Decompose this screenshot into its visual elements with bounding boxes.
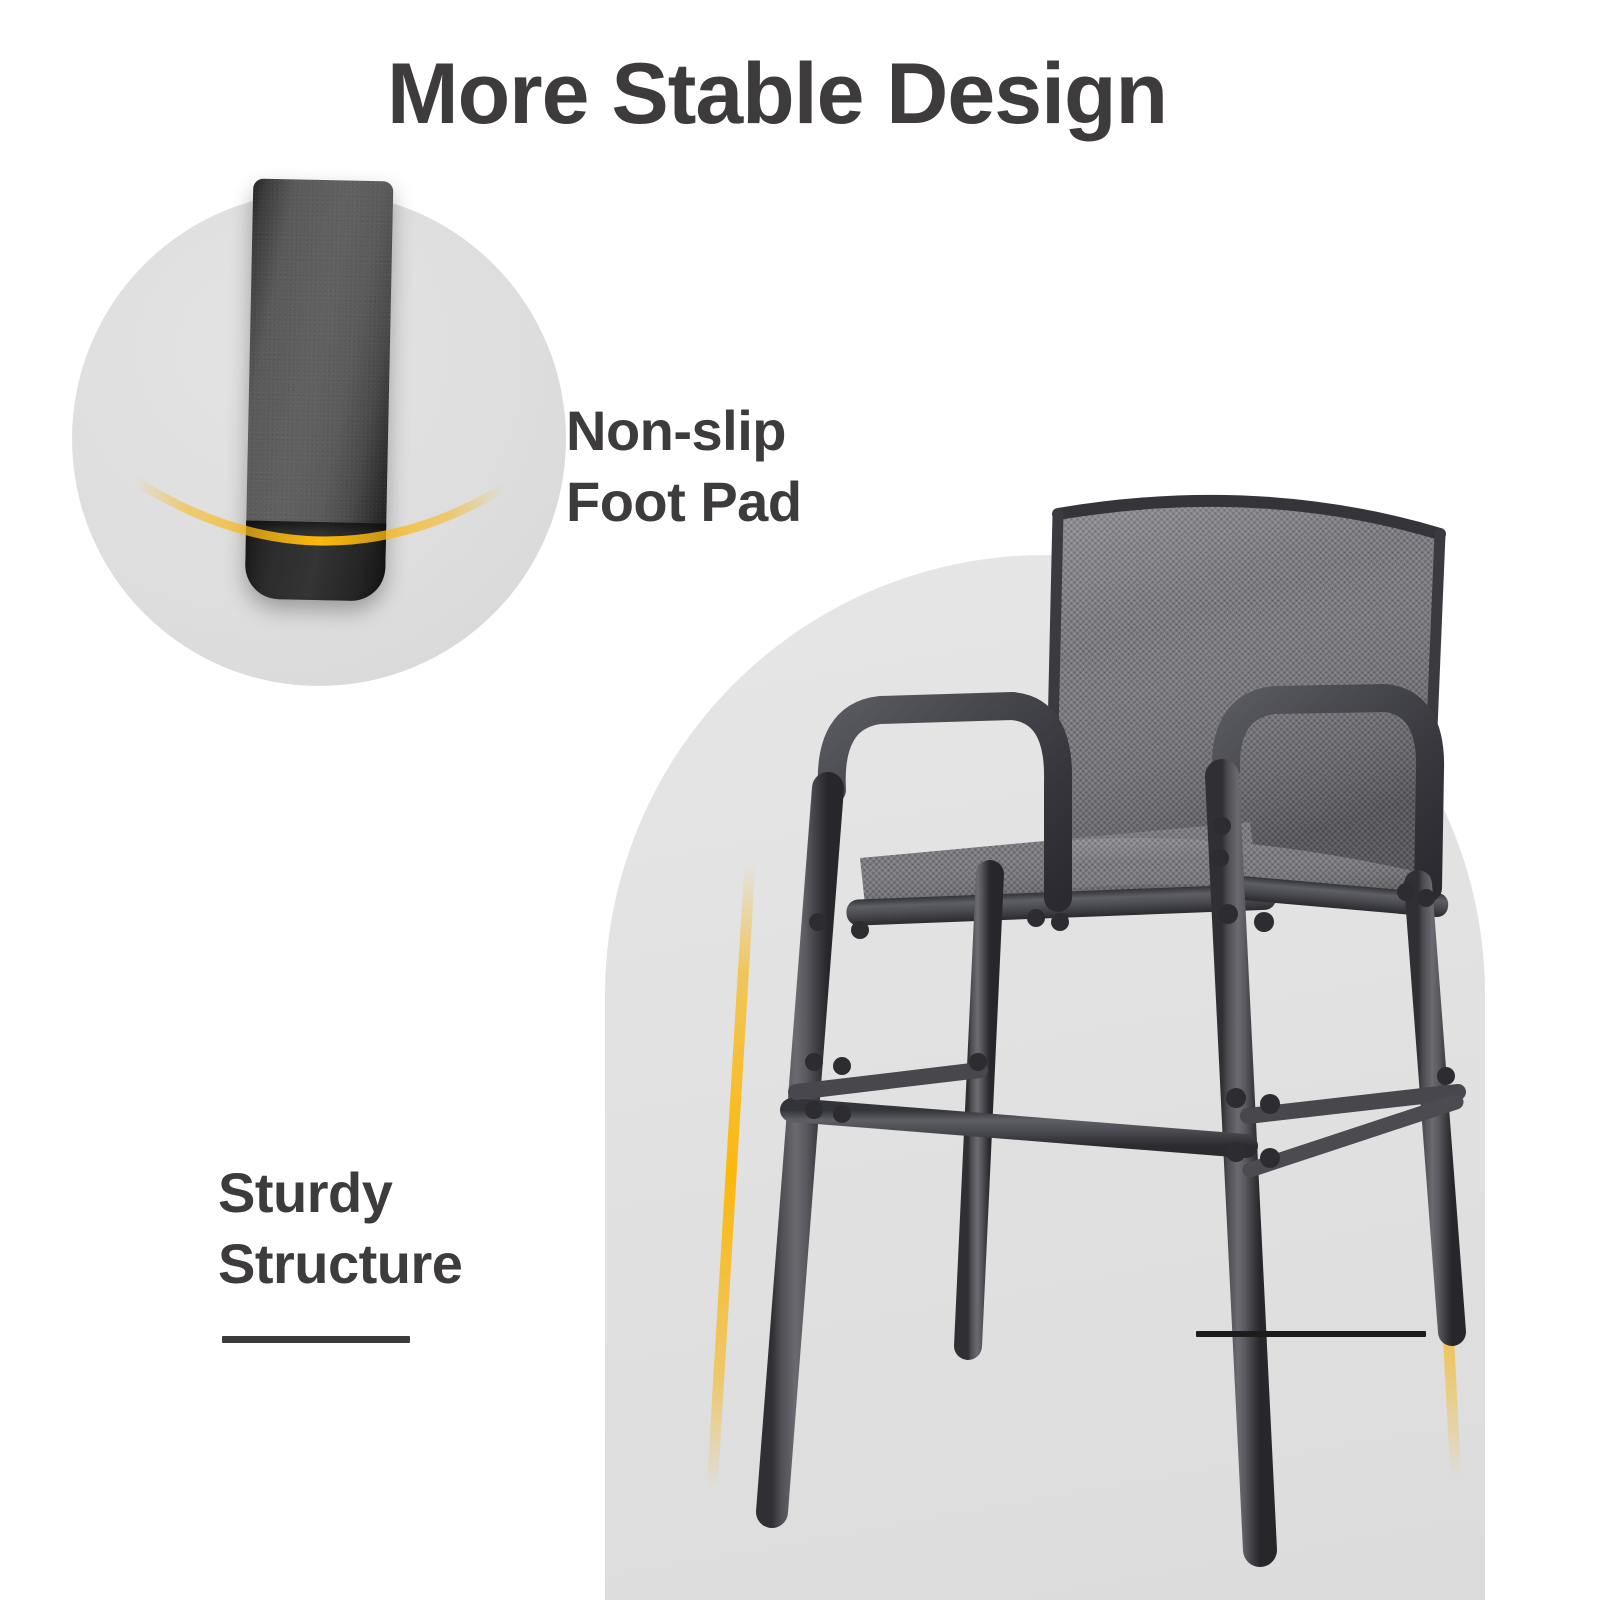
patio-bar-stool-chair-icon	[560, 470, 1600, 1600]
front-left-leg	[772, 788, 828, 1512]
footrest-front-bar	[792, 1110, 1246, 1146]
page-title: More Stable Design	[0, 48, 1600, 141]
callout-line-2: Structure	[218, 1229, 462, 1300]
callout-line-1: Non-slip	[566, 396, 802, 467]
yellow-curved-arc-icon	[130, 470, 508, 590]
left-yellow-accent-line	[712, 862, 750, 1490]
foot-pad-inset	[72, 192, 566, 686]
callout-underline-divider	[222, 1336, 410, 1343]
callout-sturdy-structure: Sturdy Structure	[218, 1158, 462, 1299]
footrest-left-brace	[796, 1070, 980, 1092]
product-scene	[560, 470, 1600, 1600]
horizontal-pointer-line	[1196, 1331, 1426, 1337]
rear-left-leg	[968, 874, 990, 1346]
callout-line-1: Sturdy	[218, 1158, 462, 1229]
